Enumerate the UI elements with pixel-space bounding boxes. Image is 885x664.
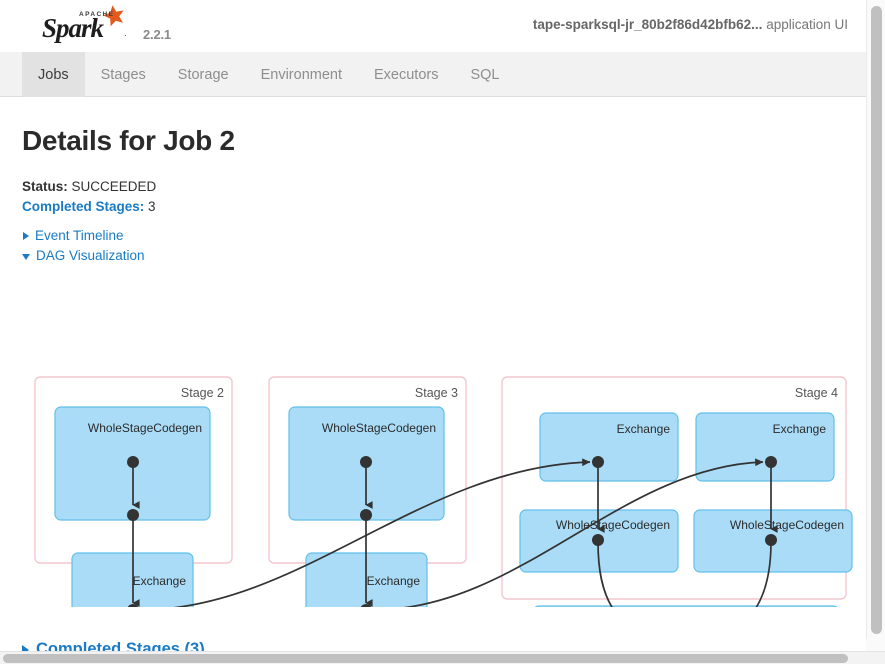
stage-2-node-mid[interactable] — [127, 509, 139, 521]
tab-sql[interactable]: SQL — [454, 52, 515, 97]
stage-2-group[interactable]: Stage 2 WholeStageCodegen Exchange — [35, 377, 232, 607]
scrollbar-corner — [866, 639, 885, 651]
dag-visualization-label: DAG Visualization — [36, 246, 145, 266]
tab-stages[interactable]: Stages — [85, 52, 162, 97]
dag-visualization-toggle[interactable]: DAG Visualization — [22, 246, 145, 266]
stage-4-wholestagecodegen-left-label: WholeStageCodegen — [556, 518, 670, 532]
application-name: tape-sparksql-jr_80b2f86d42bfb62... — [533, 17, 763, 32]
event-timeline-toggle[interactable]: Event Timeline — [22, 226, 145, 246]
caret-down-icon — [22, 254, 30, 260]
app-header: APACHE Spark . 2.2.1 tape-sparksql-jr_80… — [0, 0, 866, 52]
vertical-scrollbar[interactable] — [866, 0, 885, 652]
status-value: SUCCEEDED — [72, 179, 157, 194]
stage-4-exchange-left-label: Exchange — [617, 422, 671, 436]
stage-4-node-exchange-left[interactable] — [592, 456, 604, 468]
tab-environment[interactable]: Environment — [245, 52, 358, 97]
horizontal-scrollbar[interactable] — [0, 651, 885, 664]
dag-graph[interactable]: Stage 2 WholeStageCodegen Exchange Stage — [0, 277, 866, 607]
stage-4-node-exchange-right[interactable] — [765, 456, 777, 468]
status-row: Status: SUCCEEDED — [22, 177, 156, 197]
spark-ui-page: APACHE Spark . 2.2.1 tape-sparksql-jr_80… — [0, 0, 885, 664]
stage-3-wholestagecodegen-label: WholeStageCodegen — [322, 421, 436, 435]
stage-4-wholestagecodegen-right-label: WholeStageCodegen — [730, 518, 844, 532]
completed-stages-row: Completed Stages: 3 — [22, 197, 156, 217]
spark-logo[interactable]: APACHE Spark . 2.2.1 — [38, 3, 171, 45]
stage-4-exchange-right-label: Exchange — [773, 422, 827, 436]
tab-jobs[interactable]: Jobs — [22, 52, 85, 97]
stage-2-node-top[interactable] — [127, 456, 139, 468]
dag-visualization-panel[interactable]: Stage 2 WholeStageCodegen Exchange Stage — [0, 277, 866, 607]
spark-version-label: 2.2.1 — [143, 27, 171, 45]
stage-4-sortmergejoin-box[interactable] — [533, 606, 839, 607]
status-label: Status: — [22, 179, 68, 194]
horizontal-scrollbar-thumb[interactable] — [3, 654, 848, 663]
svg-text:.: . — [124, 28, 127, 38]
main-content: Details for Job 2 Status: SUCCEEDED Comp… — [0, 97, 866, 652]
svg-text:Spark: Spark — [42, 13, 105, 43]
stage-2-wholestagecodegen-label: WholeStageCodegen — [88, 421, 202, 435]
completed-stages-count: 3 — [148, 199, 156, 214]
stage-3-node-top[interactable] — [360, 456, 372, 468]
stage-3-node-mid[interactable] — [360, 509, 372, 521]
completed-stages-label[interactable]: Completed Stages: — [22, 199, 144, 214]
section-toggles: Event Timeline DAG Visualization — [22, 226, 145, 266]
stage-3-group[interactable]: Stage 3 WholeStageCodegen Exchange — [269, 377, 466, 607]
spark-logo-icon: APACHE Spark . — [38, 3, 136, 45]
stage-2-exchange-label: Exchange — [133, 574, 187, 588]
stage-3-label: Stage 3 — [415, 386, 458, 400]
application-title: tape-sparksql-jr_80b2f86d42bfb62... appl… — [533, 17, 848, 32]
tab-executors[interactable]: Executors — [358, 52, 454, 97]
stage-4-node-codegen-right[interactable] — [765, 534, 777, 546]
event-timeline-label: Event Timeline — [35, 226, 124, 246]
application-title-suffix: application UI — [762, 17, 848, 32]
stage-3-exchange-label: Exchange — [367, 574, 421, 588]
tab-storage[interactable]: Storage — [162, 52, 245, 97]
vertical-scrollbar-thumb[interactable] — [871, 6, 882, 634]
job-metadata: Status: SUCCEEDED Completed Stages: 3 — [22, 177, 156, 217]
stage-2-label: Stage 2 — [181, 386, 224, 400]
nav-tabs: Jobs Stages Storage Environment Executor… — [22, 52, 516, 97]
page-title: Details for Job 2 — [22, 125, 235, 157]
nav-tabbar: Jobs Stages Storage Environment Executor… — [0, 52, 866, 97]
stage-4-label: Stage 4 — [795, 386, 838, 400]
caret-right-icon — [23, 232, 29, 240]
stage-4-node-codegen-left[interactable] — [592, 534, 604, 546]
stage-4-group[interactable]: Stage 4 Exchange Exchange WholeStageCode… — [502, 377, 852, 607]
